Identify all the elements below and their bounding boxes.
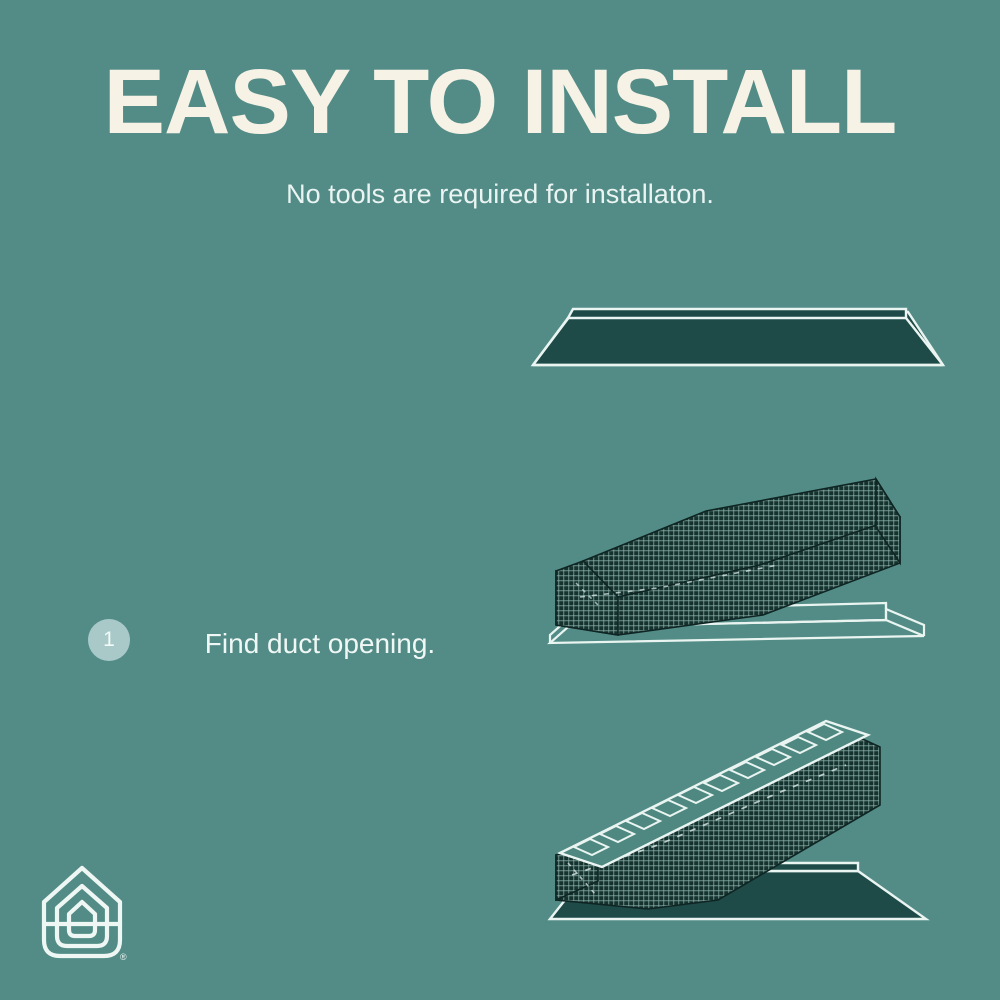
logo-inner-house	[69, 902, 95, 936]
step-1-text: Find duct opening.	[120, 624, 520, 664]
logo-trademark-symbol: ®	[120, 952, 127, 962]
duct-opening-outer	[533, 312, 943, 365]
house-monogram-logo: ®	[36, 862, 128, 962]
mesh-dust-basket	[556, 479, 900, 635]
page-title: EASY TO INSTALL	[0, 56, 1000, 148]
step-1-line-1: Find duct opening.	[120, 624, 520, 664]
step-2: 2 Place vent upside-down and strech mesh…	[0, 500, 520, 630]
page-subtitle: No tools are required for installaton.	[0, 178, 1000, 210]
duct-opening-back-rim	[568, 309, 906, 318]
poster-canvas: EASY TO INSTALL No tools are required fo…	[0, 0, 1000, 1000]
step-1: 1 Find duct opening.	[0, 300, 520, 390]
illustration-duct-opening	[528, 285, 948, 395]
illustration-vent-inserted	[528, 695, 948, 950]
illustration-vent-with-mesh-basket	[528, 465, 948, 665]
